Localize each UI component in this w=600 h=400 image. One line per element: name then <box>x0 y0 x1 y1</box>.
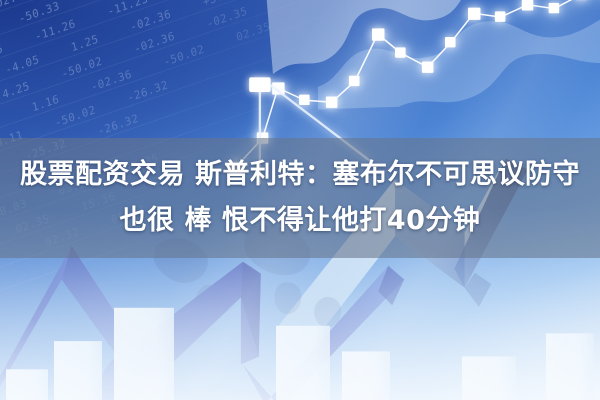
page-title: 股票配资交易 斯普利特：塞布尔不可思议防守也很 棒 恨不得让他打40分钟 <box>17 152 583 244</box>
banner-image: -99.02-02.3521.03-02.36-50.3345.022.05-1… <box>0 0 600 400</box>
headline-line-2: 棒 恨不得让他打40分钟 <box>184 205 480 236</box>
headline-band: 股票配资交易 斯普利特：塞布尔不可思议防守也很 棒 恨不得让他打40分钟 <box>0 138 600 258</box>
